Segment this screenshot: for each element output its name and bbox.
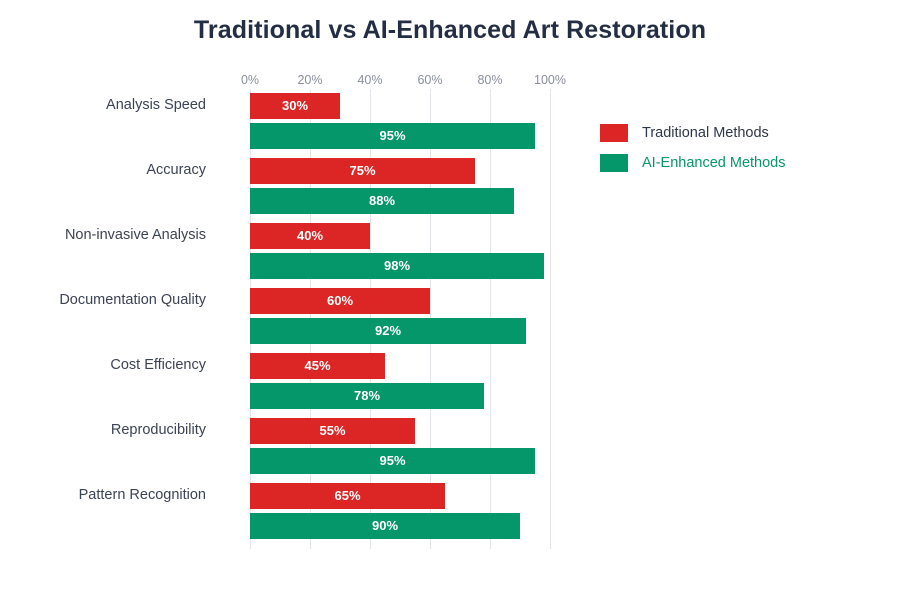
chart-legend: Traditional MethodsAI-Enhanced Methods <box>600 118 785 178</box>
x-tick-label: 40% <box>357 73 382 87</box>
bar[interactable] <box>250 223 370 249</box>
legend-item[interactable]: AI-Enhanced Methods <box>600 148 785 178</box>
bar[interactable] <box>250 448 535 474</box>
category-label: Non-invasive Analysis <box>0 227 206 243</box>
legend-label: Traditional Methods <box>642 125 769 141</box>
category-label: Reproducibility <box>0 422 206 438</box>
bar[interactable] <box>250 383 484 409</box>
bar[interactable] <box>250 318 526 344</box>
category-label: Cost Efficiency <box>0 357 206 373</box>
bar[interactable] <box>250 253 544 279</box>
bar[interactable] <box>250 288 430 314</box>
legend-item[interactable]: Traditional Methods <box>600 118 785 148</box>
bar-chart: Traditional vs AI-Enhanced Art Restorati… <box>0 0 900 600</box>
legend-swatch-icon <box>600 154 628 172</box>
bar[interactable] <box>250 483 445 509</box>
x-tick-label: 100% <box>534 73 566 87</box>
x-tick-label: 60% <box>417 73 442 87</box>
chart-title: Traditional vs AI-Enhanced Art Restorati… <box>0 16 900 45</box>
category-label: Documentation Quality <box>0 292 206 308</box>
plot-area: 30%95%75%88%40%98%60%92%45%78%55%95%65%9… <box>250 89 550 549</box>
bar[interactable] <box>250 418 415 444</box>
category-label: Accuracy <box>0 162 206 178</box>
bar[interactable] <box>250 353 385 379</box>
bar[interactable] <box>250 513 520 539</box>
gridline-100pct <box>550 89 551 549</box>
bar[interactable] <box>250 93 340 119</box>
bar[interactable] <box>250 158 475 184</box>
category-label: Pattern Recognition <box>0 487 206 503</box>
x-tick-label: 20% <box>297 73 322 87</box>
x-tick-label: 0% <box>241 73 259 87</box>
legend-swatch-icon <box>600 124 628 142</box>
category-label: Analysis Speed <box>0 97 206 113</box>
legend-label: AI-Enhanced Methods <box>642 155 785 171</box>
bar[interactable] <box>250 188 514 214</box>
x-tick-label: 80% <box>477 73 502 87</box>
bar[interactable] <box>250 123 535 149</box>
